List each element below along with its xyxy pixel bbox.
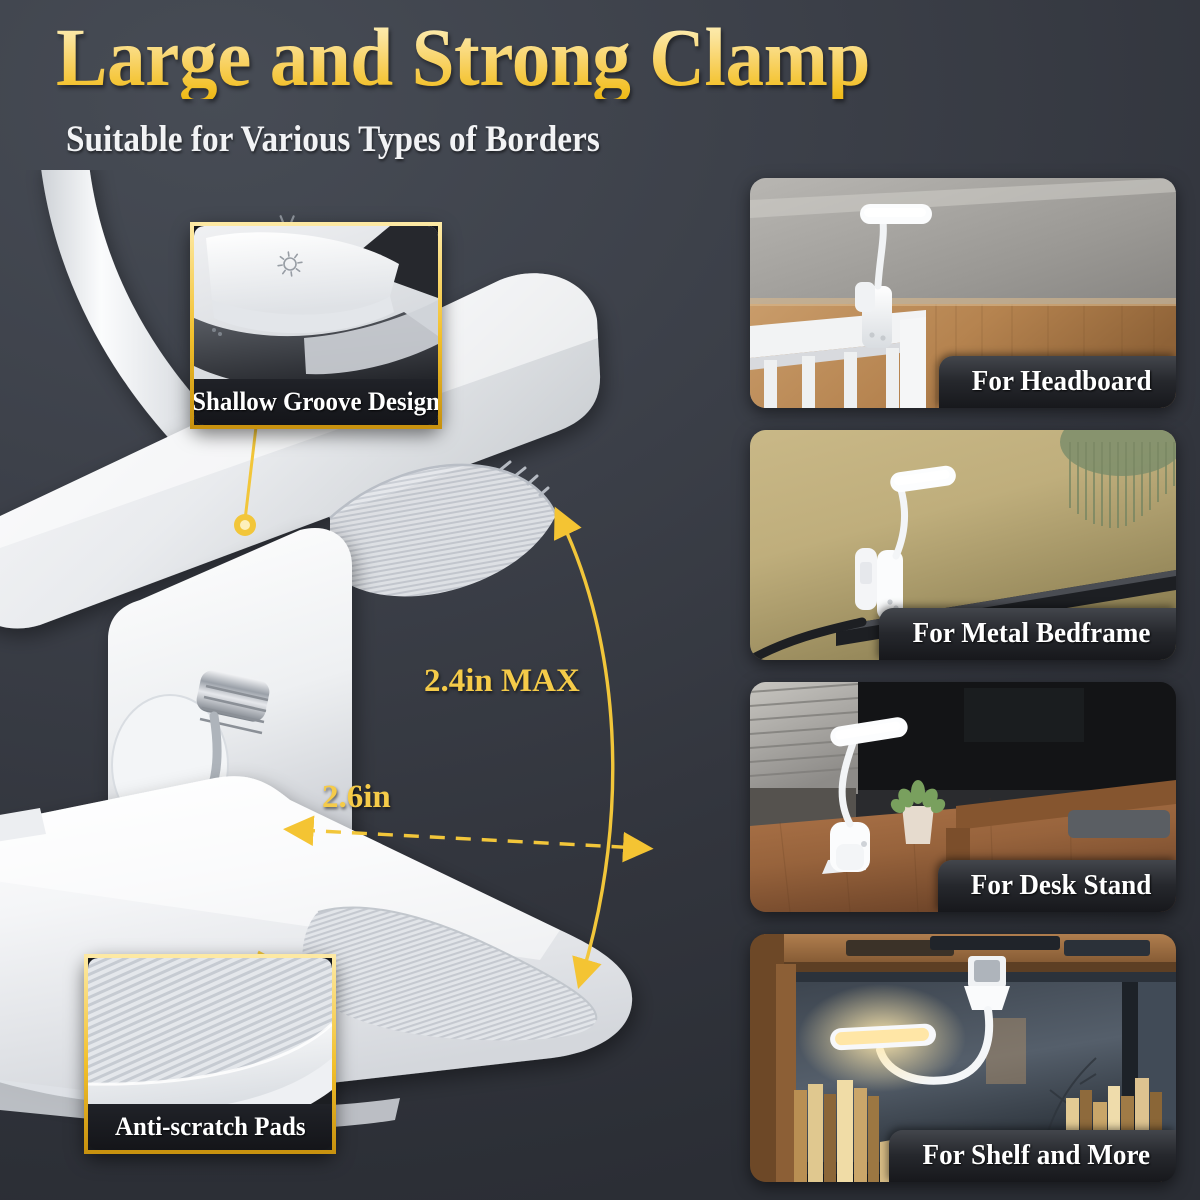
callout-shallow-groove: Shallow Groove Design (190, 222, 442, 429)
usage-card-metal-bedframe-label-text: For Metal Bedframe (913, 618, 1151, 650)
measurement-jaw-opening: 2.4in MAX (424, 663, 580, 700)
usage-card-headboard[interactable]: For Headboard (750, 178, 1176, 408)
callout-groove-label: Shallow Groove Design (194, 379, 438, 425)
usage-card-shelf[interactable]: For Shelf and More (750, 934, 1176, 1182)
callout-anti-scratch-pads: Anti-scratch Pads (84, 954, 336, 1154)
usage-card-headboard-label: For Headboard (939, 356, 1176, 408)
usage-card-desk-stand-label: For Desk Stand (938, 860, 1176, 912)
usage-card-desk-stand-label-text: For Desk Stand (971, 870, 1152, 902)
jaw-opening-arrow (562, 522, 613, 976)
groove-marker-dot (234, 514, 256, 536)
callout-pads-label-text: Anti-scratch Pads (115, 1112, 306, 1142)
gooseneck-arm (40, 170, 215, 445)
usage-card-metal-bedframe-label: For Metal Bedframe (879, 608, 1176, 660)
measurement-pad-depth: 2.6in (322, 779, 391, 816)
infographic-canvas: Large and Strong Clamp Suitable for Vari… (0, 0, 1200, 1200)
callout-groove-label-text: Shallow Groove Design (192, 387, 440, 417)
callout-pads-label: Anti-scratch Pads (88, 1104, 332, 1150)
usage-card-headboard-label-text: For Headboard (971, 366, 1151, 398)
usage-card-shelf-label-text: For Shelf and More (923, 1140, 1151, 1172)
page-title: Large and Strong Clamp (56, 16, 870, 99)
usage-card-desk-stand[interactable]: For Desk Stand (750, 682, 1176, 912)
usage-card-metal-bedframe[interactable]: For Metal Bedframe (750, 430, 1176, 660)
page-subtitle: Suitable for Various Types of Borders (66, 118, 600, 161)
usage-card-shelf-label: For Shelf and More (889, 1130, 1176, 1182)
